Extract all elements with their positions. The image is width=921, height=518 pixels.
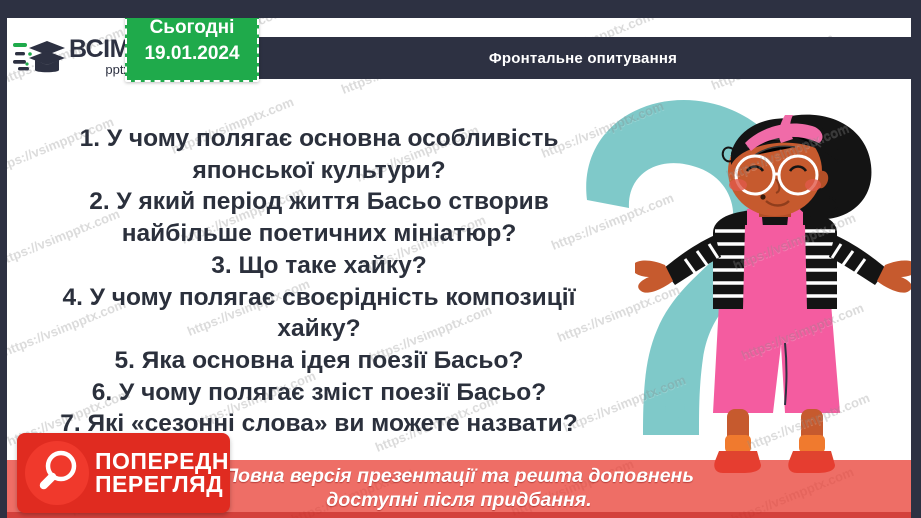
brand-suffix: pptx bbox=[69, 63, 130, 76]
question-line: 4. У чому полягає своєрідність композиці… bbox=[17, 282, 621, 314]
preview-badge-line-2: ПЕРЕГЛЯД bbox=[95, 473, 230, 496]
question-line: 1. У чому полягає основна особливість bbox=[17, 123, 621, 155]
preview-badge-text: ПОПЕРЕДНІЙ ПЕРЕГЛЯД bbox=[95, 450, 230, 497]
banner-line-2: доступні після придбання. bbox=[326, 489, 591, 513]
date-badge-value: 19.01.2024 bbox=[144, 41, 239, 67]
question-line: хайку? bbox=[17, 313, 621, 345]
question-line: найбільше поетичних мініатюр? bbox=[17, 218, 621, 250]
date-badge-label: Сьогодні bbox=[150, 18, 235, 41]
page-title: Фронтальне опитування bbox=[489, 50, 677, 67]
question-list: 1. У чому полягає основна особливість яп… bbox=[17, 123, 621, 440]
today-date-badge: Сьогодні 19.01.2024 bbox=[125, 18, 259, 82]
question-line: 6. У чому полягає зміст поезії Басьо? bbox=[17, 377, 621, 409]
preview-badge: ПОПЕРЕДНІЙ ПЕРЕГЛЯД bbox=[17, 433, 230, 513]
brand-name: ВСІМ bbox=[69, 37, 130, 62]
slide-header-bar: Фронтальне опитування bbox=[255, 37, 911, 79]
question-line: 3. Що таке хайку? bbox=[17, 250, 621, 282]
magnifier-icon bbox=[25, 441, 89, 505]
presentation-slide: https://vsimpptx.com https://vsimpptx.co… bbox=[0, 0, 921, 518]
question-line: 2. У який період життя Басьо створив bbox=[17, 186, 621, 218]
brand-wordmark: ВСІМ pptx bbox=[69, 37, 130, 76]
question-line: японської культури? bbox=[17, 155, 621, 187]
shrugging-girl-illustration bbox=[635, 113, 911, 518]
brand-logo: ВСІМ pptx bbox=[13, 30, 135, 82]
question-line: 5. Яка основна ідея поезії Басьо? bbox=[17, 345, 621, 377]
banner-line-1: Повна версія презентації та решта доповн… bbox=[224, 465, 694, 489]
preview-badge-line-1: ПОПЕРЕДНІЙ bbox=[95, 450, 230, 473]
graduation-cap-icon bbox=[13, 36, 65, 76]
slide-canvas: https://vsimpptx.com https://vsimpptx.co… bbox=[7, 18, 911, 518]
